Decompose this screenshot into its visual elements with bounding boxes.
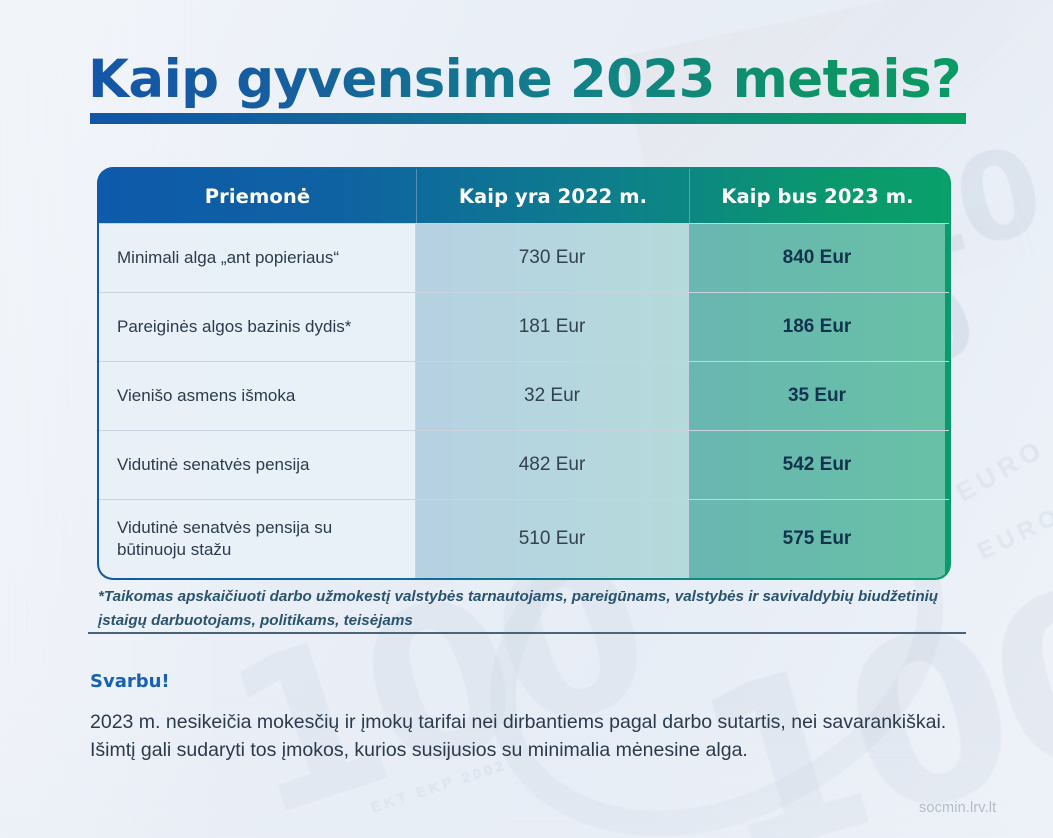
infographic-root: Kaip gyvensime 2023 metais? Priemonė Kai… xyxy=(0,0,1053,838)
cell-value-2023: 542 Eur xyxy=(689,431,945,499)
title-gradient-rule xyxy=(90,113,966,124)
source-credit: socmin.lrv.lt xyxy=(919,800,996,816)
cell-measure: Vidutinė senatvės pensija xyxy=(99,431,416,499)
section-divider xyxy=(88,632,966,634)
column-header-2022: Kaip yra 2022 m. xyxy=(416,169,689,223)
cell-measure: Vidutinė senatvės pensija su būtinuoju s… xyxy=(99,500,416,578)
page-title: Kaip gyvensime 2023 metais? xyxy=(88,49,961,110)
cell-value-2022: 482 Eur xyxy=(416,431,689,499)
cell-measure: Vienišo asmens išmoka xyxy=(99,362,416,430)
cell-value-2022: 181 Eur xyxy=(416,293,689,361)
cell-value-2022: 32 Eur xyxy=(416,362,689,430)
cell-measure: Minimali alga „ant popieriaus“ xyxy=(99,224,416,292)
cell-value-2022: 730 Eur xyxy=(416,224,689,292)
table-row: Pareiginės algos bazinis dydis* 181 Eur … xyxy=(99,292,949,361)
table-row: Vienišo asmens išmoka 32 Eur 35 Eur xyxy=(99,361,949,430)
cell-value-2023: 186 Eur xyxy=(689,293,945,361)
column-header-measure: Priemonė xyxy=(99,169,416,223)
cell-value-2023: 840 Eur xyxy=(689,224,945,292)
table-footnote: *Taikomas apskaičiuoti darbo užmokestį v… xyxy=(98,585,958,632)
comparison-table: Priemonė Kaip yra 2022 m. Kaip bus 2023 … xyxy=(97,167,951,580)
cell-value-2023: 35 Eur xyxy=(689,362,945,430)
important-body-text: 2023 m. nesikeičia mokesčių ir įmokų tar… xyxy=(90,708,952,764)
column-header-2023: Kaip bus 2023 m. xyxy=(689,169,945,223)
cell-value-2022: 510 Eur xyxy=(416,500,689,578)
table-header-row: Priemonė Kaip yra 2022 m. Kaip bus 2023 … xyxy=(99,169,949,223)
cell-measure: Pareiginės algos bazinis dydis* xyxy=(99,293,416,361)
cell-value-2023: 575 Eur xyxy=(689,500,945,578)
table-row: Minimali alga „ant popieriaus“ 730 Eur 8… xyxy=(99,223,949,292)
important-heading: Svarbu! xyxy=(90,671,170,692)
table-row: Vidutinė senatvės pensija su būtinuoju s… xyxy=(99,499,949,578)
table-row: Vidutinė senatvės pensija 482 Eur 542 Eu… xyxy=(99,430,949,499)
